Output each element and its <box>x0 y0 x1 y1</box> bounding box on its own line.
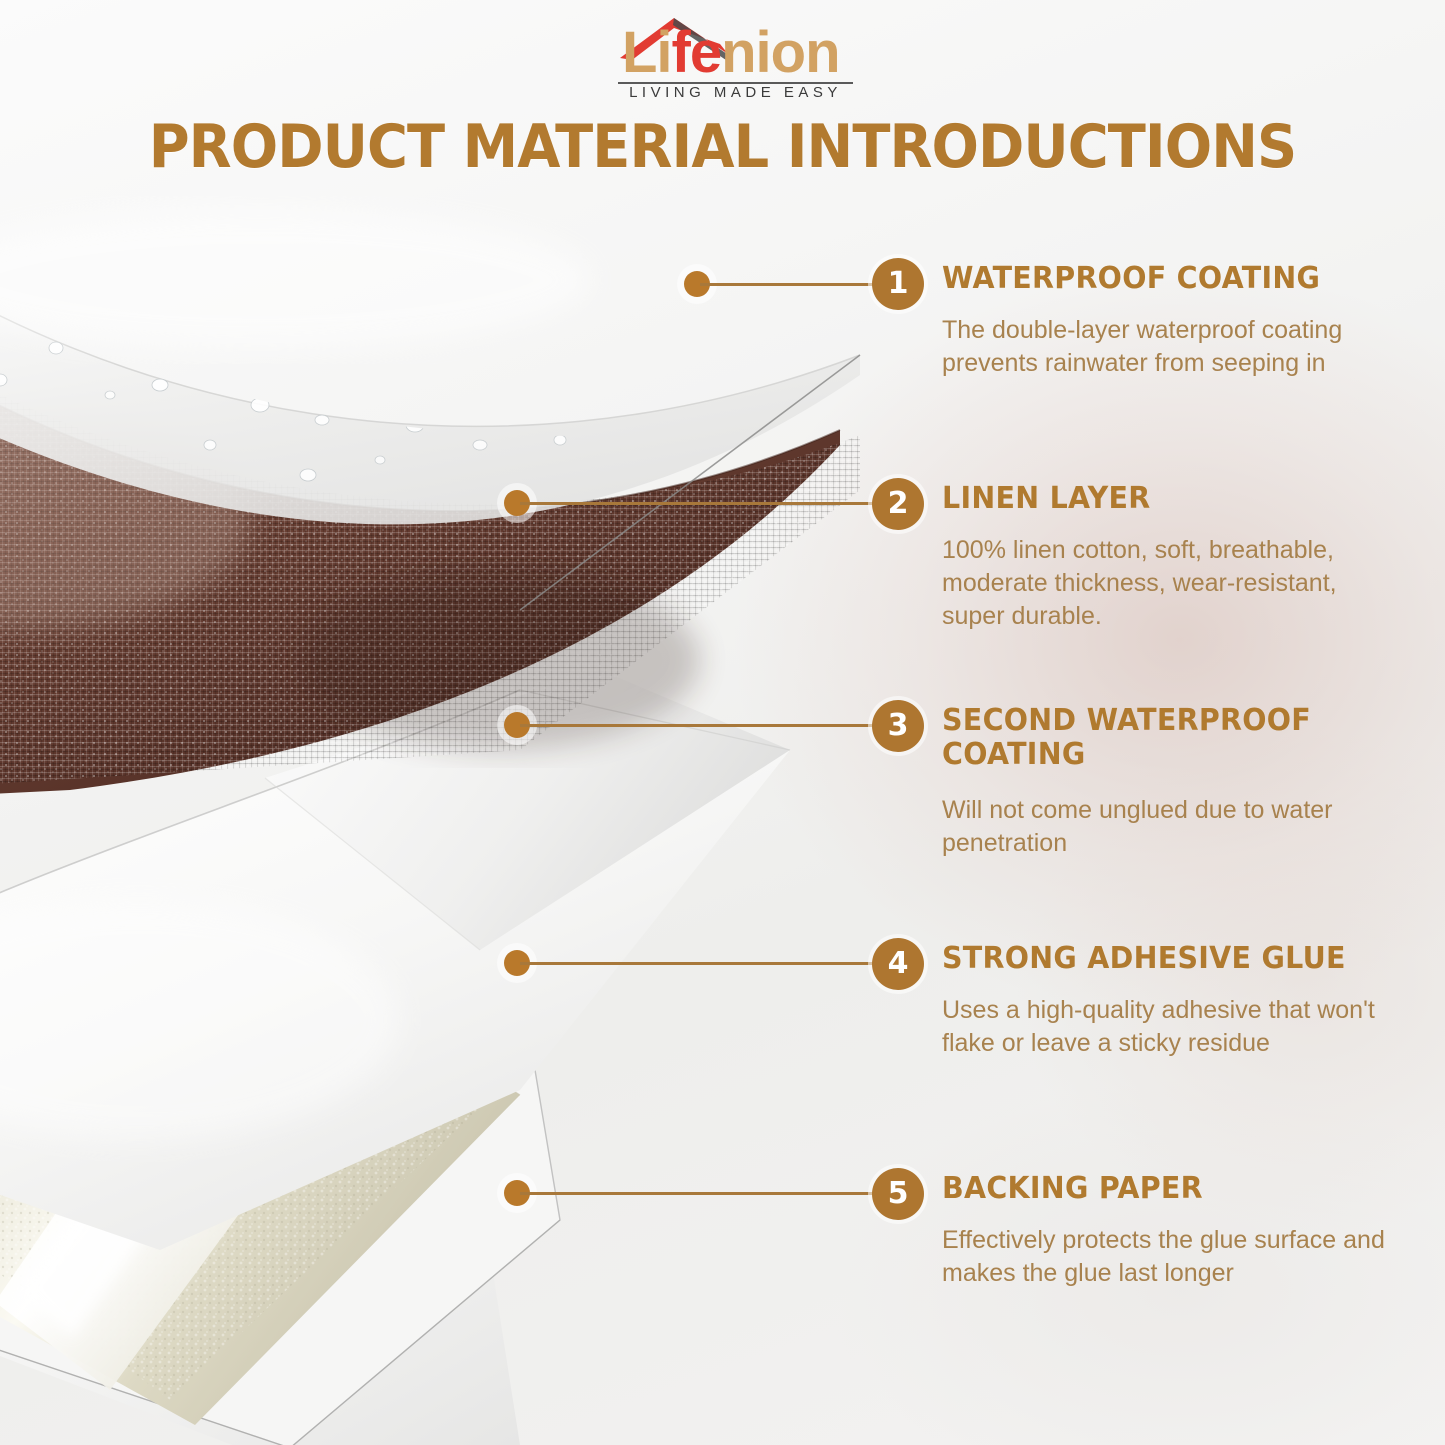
brand-wordmark: Lifenion <box>622 24 840 82</box>
brand-tagline: LIVING MADE EASY <box>618 84 853 101</box>
brand-logo: Lifenion LIVING MADE EASY <box>600 8 870 100</box>
callout-heading-2: LINEN LAYER <box>942 482 1370 516</box>
brand-name-part1: Li <box>622 20 672 85</box>
callout-badge-1: 1 <box>872 258 924 310</box>
callout-badge-4: 4 <box>872 938 924 990</box>
leader-line-3 <box>520 724 878 727</box>
callout-badge-3: 3 <box>872 700 924 752</box>
callout-badge-2: 2 <box>872 478 924 530</box>
leader-line-2 <box>520 502 878 505</box>
callout-body-3: Will not come unglued due to water penet… <box>942 794 1402 860</box>
callout-badge-5: 5 <box>872 1168 924 1220</box>
leader-line-1 <box>700 283 878 286</box>
callout-heading-1: WATERPROOF COATING <box>942 262 1370 296</box>
brand-name-part3: nion <box>721 20 839 85</box>
leader-line-4 <box>520 962 878 965</box>
callout-heading-4: STRONG ADHESIVE GLUE <box>942 942 1370 976</box>
callout-body-4: Uses a high-quality adhesive that won't … <box>942 994 1402 1060</box>
page-title: PRODUCT MATERIAL INTRODUCTIONS <box>51 112 1395 182</box>
infographic-canvas: Lifenion LIVING MADE EASY PRODUCT MATERI… <box>0 0 1445 1445</box>
callout-body-1: The double-layer waterproof coating prev… <box>942 314 1402 380</box>
product-layers-illustration <box>0 190 890 1445</box>
callout-heading-3: SECOND WATERPROOF COATING <box>942 704 1322 772</box>
leader-line-5 <box>520 1192 878 1195</box>
brand-name-part2: fe <box>672 20 722 85</box>
callout-body-2: 100% linen cotton, soft, breathable, mod… <box>942 534 1402 633</box>
callout-body-5: Effectively protects the glue surface an… <box>942 1224 1402 1290</box>
callout-heading-5: BACKING PAPER <box>942 1172 1370 1206</box>
